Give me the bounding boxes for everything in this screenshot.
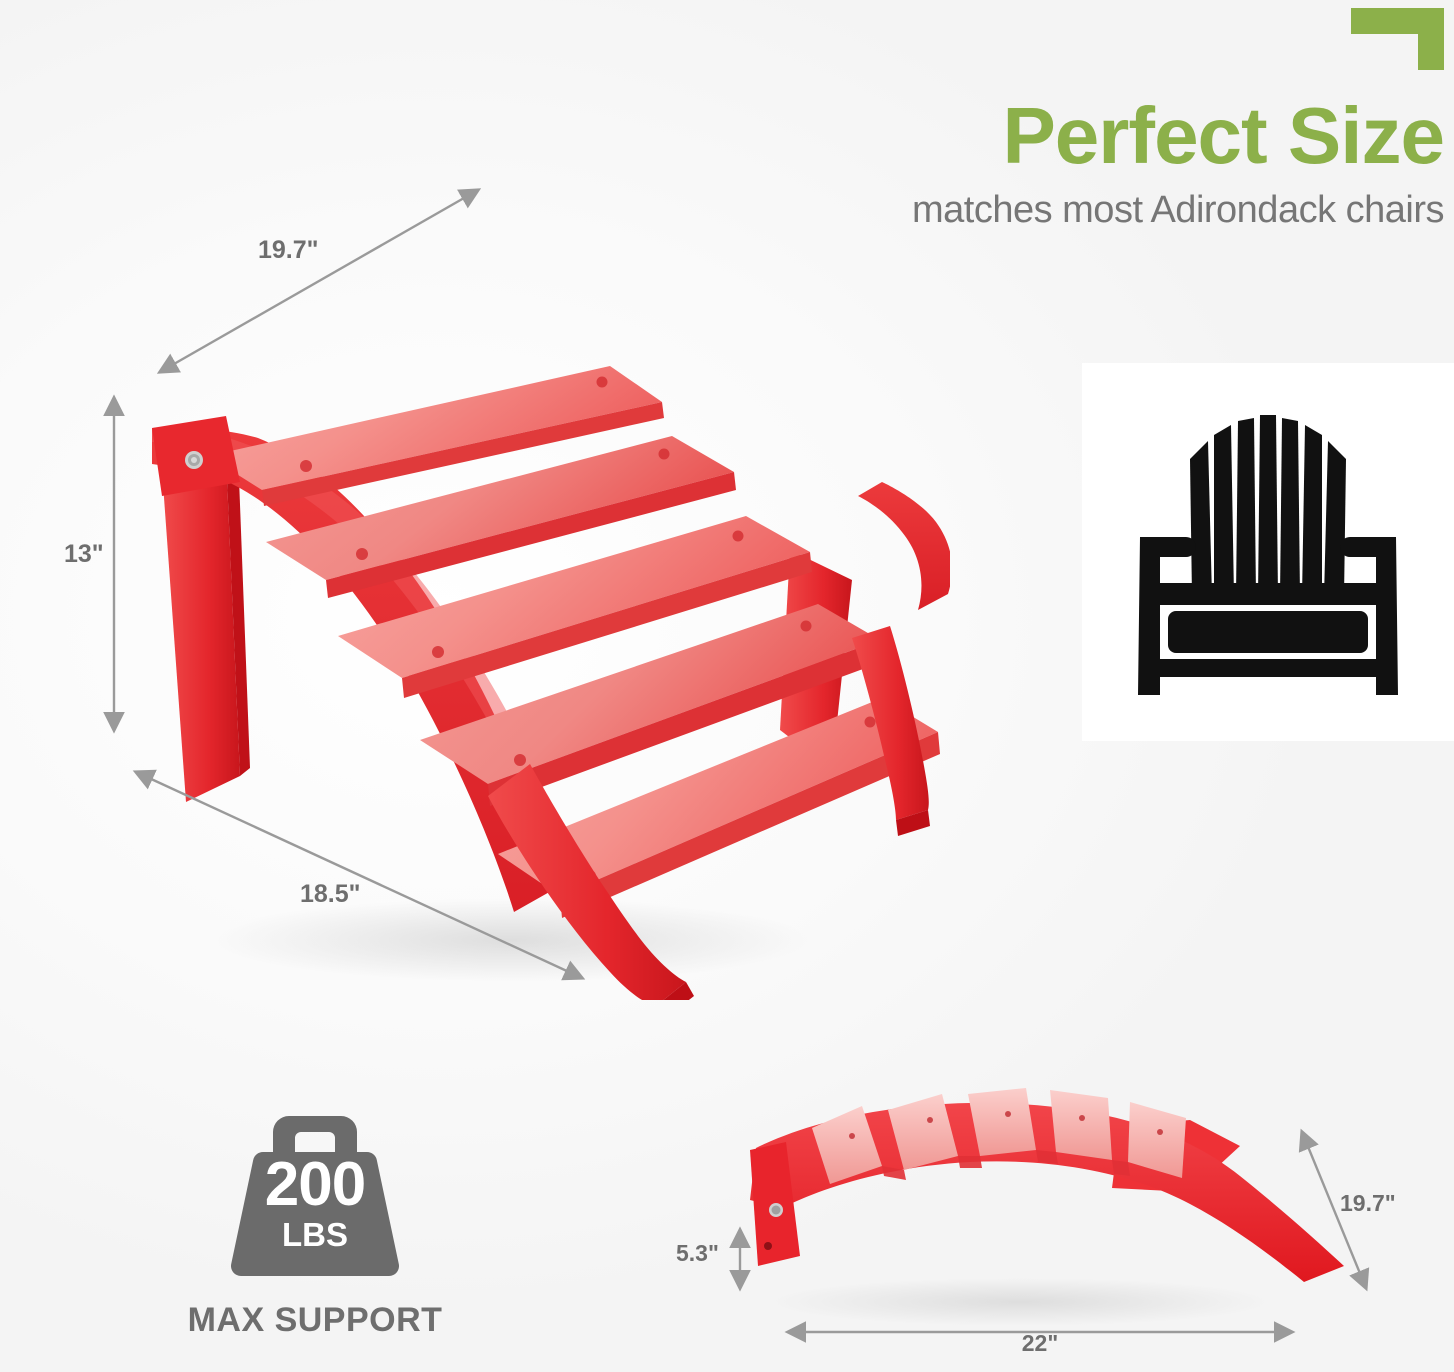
dimension-label-folded-thickness: 5.3" (676, 1240, 719, 1267)
dimension-label-folded-length: 22" (1022, 1330, 1059, 1357)
weight-icon: 200 LBS (215, 1110, 415, 1285)
page-title: Perfect Size (764, 96, 1444, 176)
weight-unit: LBS (215, 1218, 415, 1251)
product-image-assembled (90, 170, 950, 1000)
max-support-caption: MAX SUPPORT (188, 1301, 443, 1340)
max-support-badge: 200 LBS MAX SUPPORT (150, 1110, 480, 1340)
adirondack-chair-icon (1118, 397, 1418, 707)
dimension-label-height: 13" (64, 540, 104, 569)
adirondack-chair-panel (1082, 363, 1454, 741)
dimension-label-width: 19.7" (258, 236, 319, 265)
page-subtitle: matches most Adirondack chairs (764, 190, 1444, 232)
dimension-label-depth: 18.5" (300, 880, 361, 909)
corner-bracket-icon (1351, 8, 1444, 70)
headline-block: Perfect Size matches most Adirondack cha… (764, 96, 1444, 232)
corner-bracket-vertical-bar (1418, 8, 1444, 70)
dimension-label-folded-width: 19.7" (1340, 1190, 1396, 1217)
product-image-folded (720, 1080, 1360, 1330)
weight-value: 200 (215, 1154, 415, 1216)
